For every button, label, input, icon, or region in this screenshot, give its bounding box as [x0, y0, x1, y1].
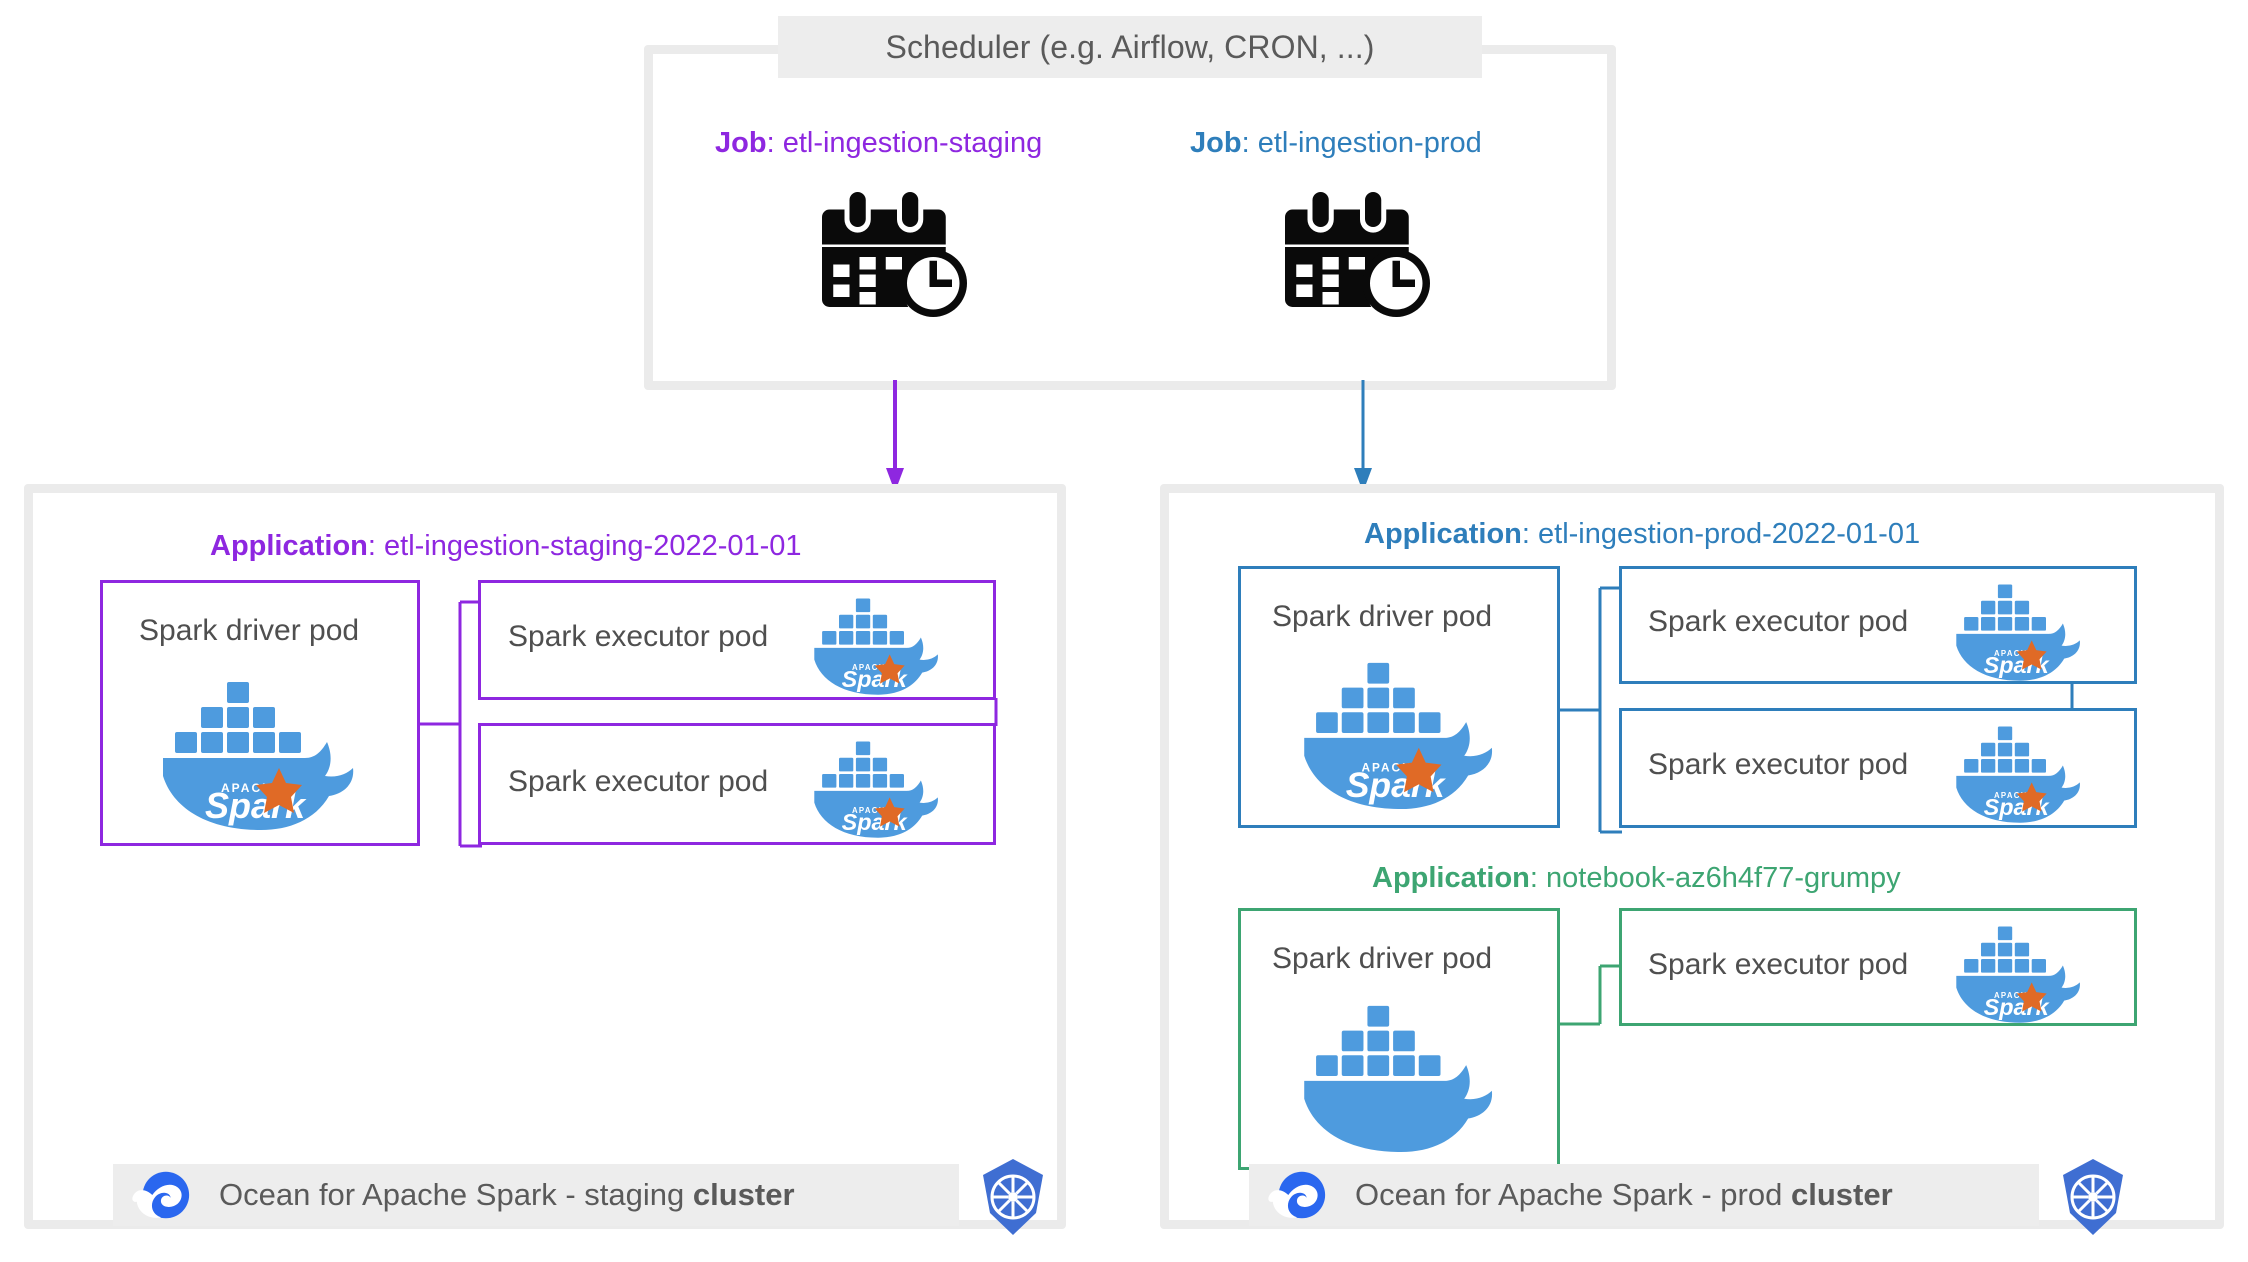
application-title-prod: Application: etl-ingestion-prod-2022-01-…: [1364, 518, 1920, 551]
pod-executor-label: Spark executor pod: [1648, 748, 1908, 782]
cluster-footer-bold: cluster: [1791, 1177, 1893, 1212]
pod-executor-label: Spark executor pod: [508, 620, 768, 654]
kubernetes-icon: [975, 1157, 1051, 1237]
job-label-prod: Job: etl-ingestion-prod: [1190, 127, 1482, 160]
pod-driver-label: Spark driver pod: [1272, 600, 1492, 634]
job-separator: :: [1242, 127, 1258, 159]
docker-spark-whale-icon: APACHE Spark: [1950, 720, 2090, 824]
calendar-clock-icon: [1285, 192, 1435, 317]
application-title-staging: Application: etl-ingestion-staging-2022-…: [210, 530, 802, 563]
application-name: etl-ingestion-staging-2022-01-01: [384, 530, 802, 562]
docker-spark-whale-icon: APACHE Spark: [808, 592, 948, 696]
calendar-clock-icon: [822, 192, 972, 317]
cluster-footer-plain: Ocean for Apache Spark - staging: [219, 1177, 693, 1212]
ocean-logo: [131, 1164, 193, 1226]
kubernetes-icon: [2055, 1157, 2131, 1237]
application-name: etl-ingestion-prod-2022-01-01: [1538, 518, 1920, 550]
docker-spark-whale-icon: APACHE Spark: [1950, 920, 2090, 1024]
docker-whale-icon: [1302, 996, 1500, 1154]
application-title-notebook: Application: notebook-az6h4f77-grumpy: [1372, 862, 1901, 895]
application-separator: :: [368, 530, 384, 562]
application-prefix: Application: [1372, 862, 1530, 894]
application-prefix: Application: [210, 530, 368, 562]
job-name: etl-ingestion-prod: [1258, 127, 1482, 159]
docker-spark-whale-icon: APACHE Spark: [1950, 578, 2090, 682]
pod-executor-label: Spark executor pod: [508, 765, 768, 799]
application-separator: :: [1530, 862, 1546, 894]
job-separator: :: [767, 127, 783, 159]
cluster-footer-prod: Ocean for Apache Spark - prod cluster: [1249, 1164, 2039, 1226]
arrow-scheduler-to-prod: [1348, 380, 1378, 492]
application-prefix: Application: [1364, 518, 1522, 550]
application-separator: :: [1522, 518, 1538, 550]
scheduler-title: Scheduler (e.g. Airflow, CRON, ...): [778, 16, 1482, 78]
pod-driver-label: Spark driver pod: [139, 614, 359, 648]
job-prefix: Job: [1190, 127, 1242, 159]
arrow-scheduler-to-staging: [880, 380, 910, 492]
cluster-footer-label: Ocean for Apache Spark - prod cluster: [1355, 1177, 1893, 1213]
docker-spark-whale-icon: APACHE Spark: [1302, 653, 1500, 811]
cluster-footer-bold: cluster: [693, 1177, 795, 1212]
docker-spark-whale-icon: APACHE Spark: [160, 672, 362, 832]
pod-driver-label: Spark driver pod: [1272, 942, 1492, 976]
docker-spark-whale-icon: APACHE Spark: [808, 735, 948, 839]
job-prefix: Job: [715, 127, 767, 159]
application-name: notebook-az6h4f77-grumpy: [1546, 862, 1901, 894]
job-label-staging: Job: etl-ingestion-staging: [715, 127, 1042, 160]
pod-executor-label: Spark executor pod: [1648, 605, 1908, 639]
cluster-footer-plain: Ocean for Apache Spark - prod: [1355, 1177, 1791, 1212]
cluster-footer-staging: Ocean for Apache Spark - staging cluster: [113, 1164, 959, 1226]
cluster-footer-label: Ocean for Apache Spark - staging cluster: [219, 1177, 795, 1213]
ocean-logo: [1267, 1164, 1329, 1226]
pod-executor-label: Spark executor pod: [1648, 948, 1908, 982]
job-name: etl-ingestion-staging: [783, 127, 1043, 159]
scheduler-container: [644, 45, 1616, 390]
